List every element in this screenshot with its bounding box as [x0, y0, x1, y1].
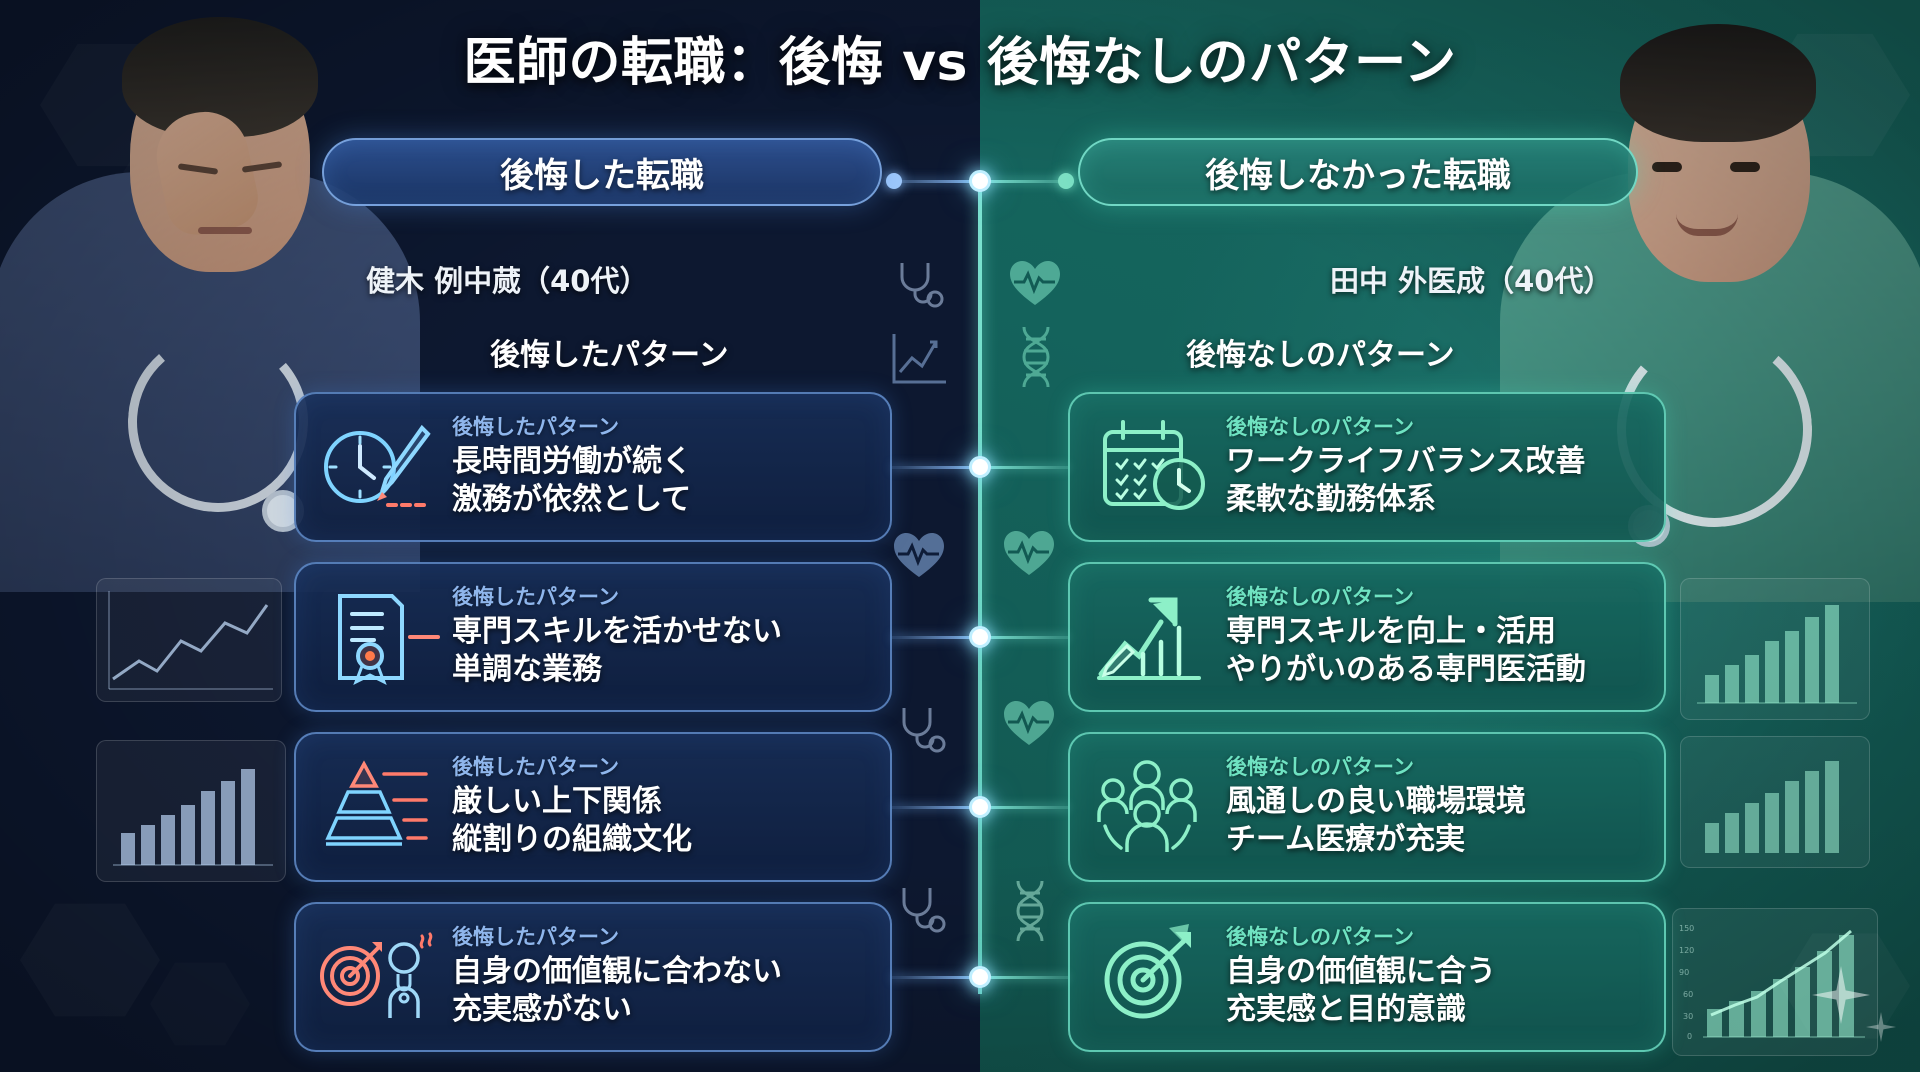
target-arrow-icon: [1088, 917, 1220, 1037]
connector-node: [1058, 173, 1074, 189]
card-kicker: 後悔したパターン: [452, 926, 872, 949]
card-line-2: 充実感と目的意識: [1226, 991, 1646, 1029]
dna-icon: [1012, 325, 1060, 393]
card-line-1: ワークライフバランス改善: [1226, 443, 1646, 481]
card-kicker: 後悔したパターン: [452, 756, 872, 779]
connector-node-main: [969, 796, 991, 818]
pyramid-hierarchy-icon: [314, 747, 446, 867]
clock-scalpel-icon: [314, 407, 446, 527]
card-kicker: 後悔したパターン: [452, 586, 872, 609]
svg-text:150: 150: [1679, 924, 1694, 933]
card-line-2: 単調な業務: [452, 651, 872, 689]
left-card-1[interactable]: 後悔したパターン 長時間労働が続く 激務が依然として: [294, 392, 892, 542]
card-kicker: 後悔なしのパターン: [1226, 756, 1646, 779]
team-group-icon: [1088, 747, 1220, 867]
card-kicker: 後悔なしのパターン: [1226, 416, 1646, 439]
stethoscope-icon: [890, 880, 952, 946]
svg-text:0: 0: [1687, 1032, 1692, 1041]
right-card-4[interactable]: 後悔なしのパターン 自身の価値観に合う 充実感と目的意識: [1068, 902, 1666, 1052]
left-section-pill-label: 後悔した転職: [500, 148, 704, 197]
connector-node-main: [969, 170, 991, 192]
left-card-4[interactable]: 後悔したパターン 自身の価値観に合わない 充実感がない: [294, 902, 892, 1052]
heartbeat-icon: [1008, 258, 1062, 312]
decor-bar-chart: [1680, 736, 1870, 868]
card-line-2: 柔軟な勤務体系: [1226, 481, 1646, 519]
heartbeat-icon: [892, 530, 946, 584]
stethoscope-icon: [890, 700, 952, 766]
card-line-1: 厳しい上下関係: [452, 783, 872, 821]
page-title: 医師の転職：後悔 vs 後悔なしのパターン: [0, 20, 1920, 95]
connector-node-main: [969, 626, 991, 648]
card-line-1: 風通しの良い職場環境: [1226, 783, 1646, 821]
card-line-2: チーム医療が充実: [1226, 821, 1646, 859]
card-kicker: 後悔なしのパターン: [1226, 586, 1646, 609]
right-card-3[interactable]: 後悔なしのパターン 風通しの良い職場環境 チーム医療が充実: [1068, 732, 1666, 882]
heartbeat-icon: [1002, 698, 1056, 752]
svg-text:90: 90: [1679, 968, 1689, 977]
right-column-subtitle: 後悔なしのパターン: [1186, 330, 1455, 374]
infographic-canvas: 15012090 60300 医師の転職：後悔 vs 後悔なしのパターン 後悔し…: [0, 0, 1920, 1072]
left-person-caption: 健木 例中蒇（40代）: [366, 258, 648, 300]
card-line-1: 自身の価値観に合う: [1226, 953, 1646, 991]
card-line-2: やりがいのある専門医活動: [1226, 651, 1646, 689]
connector-node: [886, 173, 902, 189]
target-stressed-doctor-icon: [314, 917, 446, 1037]
left-section-pill: 後悔した転職: [322, 138, 882, 206]
card-line-1: 長時間労働が続く: [452, 443, 872, 481]
line-chart-icon: [888, 330, 950, 392]
growth-chart-arrow-icon: [1088, 577, 1220, 697]
heartbeat-icon: [1002, 528, 1056, 582]
left-card-2[interactable]: 後悔したパターン 専門スキルを活かせない 単調な業務: [294, 562, 892, 712]
right-person-caption: 田中 外医成（40代）: [1330, 258, 1612, 300]
left-column-subtitle: 後悔したパターン: [490, 330, 729, 374]
card-line-2: 縦割りの組織文化: [452, 821, 872, 859]
decor-bar-chart: [96, 740, 286, 882]
decor-line-chart: [96, 578, 282, 702]
connector-node-main: [969, 456, 991, 478]
stethoscope-icon: [888, 255, 950, 321]
card-kicker: 後悔なしのパターン: [1226, 926, 1646, 949]
card-line-1: 専門スキルを活かせない: [452, 613, 872, 651]
svg-text:120: 120: [1679, 946, 1694, 955]
right-section-pill: 後悔しなかった転職: [1078, 138, 1638, 206]
right-card-2[interactable]: 後悔なしのパターン 専門スキルを向上・活用 やりがいのある専門医活動: [1068, 562, 1666, 712]
right-card-1[interactable]: 後悔なしのパターン ワークライフバランス改善 柔軟な勤務体系: [1068, 392, 1666, 542]
decor-bar-chart: [1680, 578, 1870, 720]
certificate-icon: [314, 577, 446, 697]
left-card-3[interactable]: 後悔したパターン 厳しい上下関係 縦割りの組織文化: [294, 732, 892, 882]
right-section-pill-label: 後悔しなかった転職: [1205, 148, 1511, 197]
calendar-clock-icon: [1088, 407, 1220, 527]
card-kicker: 後悔したパターン: [452, 416, 872, 439]
card-line-1: 専門スキルを向上・活用: [1226, 613, 1646, 651]
decor-mixed-chart: 15012090 60300: [1672, 908, 1878, 1056]
dna-icon: [1006, 878, 1054, 948]
card-line-1: 自身の価値観に合わない: [452, 953, 872, 991]
svg-text:60: 60: [1683, 990, 1693, 999]
svg-text:30: 30: [1683, 1012, 1693, 1021]
connector-node-main: [969, 966, 991, 988]
card-line-2: 激務が依然として: [452, 481, 872, 519]
card-line-2: 充実感がない: [452, 991, 872, 1029]
